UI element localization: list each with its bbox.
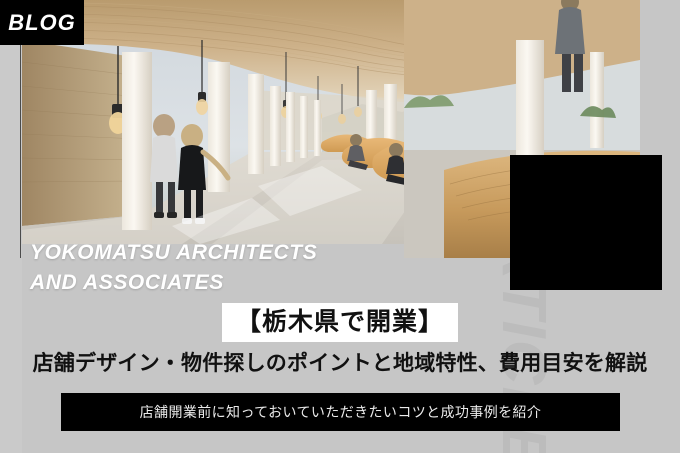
brand-line-2: AND ASSOCIATES xyxy=(30,268,317,298)
headline-kicker: 【栃木県で開業】 xyxy=(222,303,458,342)
blog-badge: BLOG xyxy=(0,0,84,45)
poster-canvas: BLOG ARTICLE xyxy=(0,0,680,453)
blog-badge-label: BLOG xyxy=(8,12,76,34)
black-accent-block xyxy=(510,155,662,290)
left-gray-strip xyxy=(0,0,22,453)
brand-line-1: YOKOMATSU ARCHITECTS xyxy=(30,238,317,268)
headline-group: 【栃木県で開業】 店舗デザイン・物件探しのポイントと地域特性、費用目安を解説 xyxy=(0,303,680,376)
headline-subhead: 店舗デザイン・物件探しのポイントと地域特性、費用目安を解説 xyxy=(0,351,680,376)
bottom-caption-bar: 店舗開業前に知っておいていただきたいコツと成功事例を紹介 xyxy=(61,393,620,431)
brand-credit: YOKOMATSU ARCHITECTS AND ASSOCIATES xyxy=(30,238,317,299)
bottom-caption-text: 店舗開業前に知っておいていただきたいコツと成功事例を紹介 xyxy=(140,405,542,419)
